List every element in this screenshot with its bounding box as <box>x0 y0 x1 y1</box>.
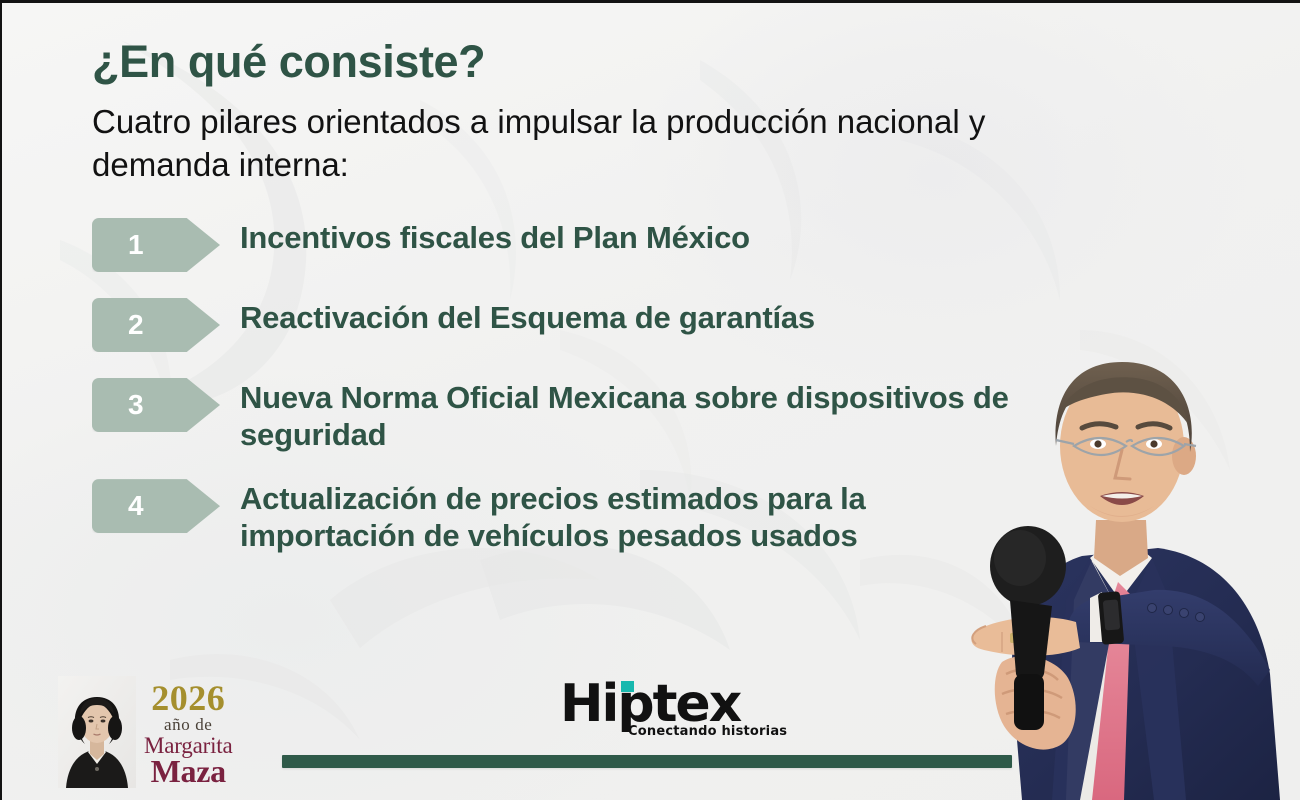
margarita-maza-portrait-icon <box>58 676 136 788</box>
pillar-number-4: 4 <box>128 492 144 520</box>
pillar-number-badge-4: 4 <box>92 479 220 533</box>
pillar-number-badge-3: 3 <box>92 378 220 432</box>
pillar-number-badge-2: 2 <box>92 298 220 352</box>
pillar-label-4: Actualización de precios estimados para … <box>240 475 1040 554</box>
slide-subtitle: Cuatro pilares orientados a impulsar la … <box>92 101 1122 187</box>
pillar-number-1: 1 <box>128 231 144 259</box>
commemorative-line-1: año de <box>144 716 232 733</box>
page-title: ¿En qué consiste? <box>92 38 1152 85</box>
pillar-label-3: Nueva Norma Oficial Mexicana sobre dispo… <box>240 374 1040 453</box>
pillars-list: 1 Incentivos fiscales del Plan México 2 … <box>92 214 1052 554</box>
slide-header: ¿En qué consiste? Cuatro pilares orienta… <box>92 38 1152 187</box>
presentation-slide: ¿En qué consiste? Cuatro pilares orienta… <box>0 0 1300 800</box>
footer-accent-bar <box>282 755 1012 768</box>
list-item: 1 Incentivos fiscales del Plan México <box>92 214 1052 272</box>
pillar-number-3: 3 <box>128 391 144 419</box>
pillar-label-1: Incentivos fiscales del Plan México <box>240 214 750 257</box>
commemorative-year: 2026 <box>144 682 232 715</box>
frame-edge-left <box>0 0 2 800</box>
margarita-maza-wordmark: 2026 año de Margarita Maza <box>144 682 232 789</box>
hiptex-logo: Hiptex Conectando historias <box>560 678 787 739</box>
pillar-number-2: 2 <box>128 311 144 339</box>
list-item: 2 Reactivación del Esquema de garantías <box>92 294 1052 352</box>
pillar-number-badge-1: 1 <box>92 218 220 272</box>
list-item: 3 Nueva Norma Oficial Mexicana sobre dis… <box>92 374 1052 453</box>
frame-edge-top <box>0 0 1300 3</box>
hiptex-name: Hiptex <box>560 674 740 734</box>
list-item: 4 Actualización de precios estimados par… <box>92 475 1052 554</box>
commemorative-line-3: Maza <box>144 756 232 786</box>
pillar-label-2: Reactivación del Esquema de garantías <box>240 294 815 337</box>
hiptex-wordmark: Hiptex <box>560 678 787 730</box>
margarita-maza-logo: 2026 año de Margarita Maza <box>58 676 232 788</box>
hiptex-accent-dot-icon <box>621 681 634 692</box>
